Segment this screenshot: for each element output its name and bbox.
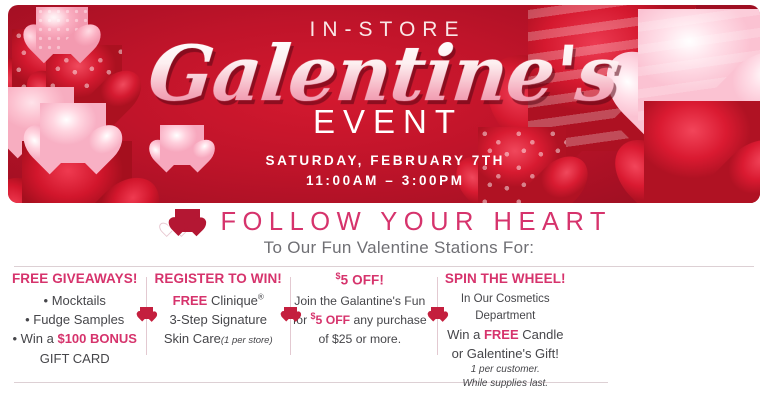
clinique-line-2: 3-Step Signature xyxy=(149,310,287,329)
fineprint-supplies: While supplies last. xyxy=(433,377,578,391)
per-store-limit: (1 per store) xyxy=(221,335,273,346)
win-a-text: Win a xyxy=(447,327,484,342)
heart-divider-icon xyxy=(284,307,297,319)
details-panel: FOLLOW YOUR HEART To Our Fun Valentine S… xyxy=(0,203,768,402)
column-divider-1 xyxy=(146,277,147,355)
stations-columns: FREE GIVEAWAYS! • Mocktails • Fudge Samp… xyxy=(0,271,578,390)
clinique-offer-line: FREE Clinique® xyxy=(149,291,287,310)
column-divider-2 xyxy=(290,277,291,355)
heart-divider-icon xyxy=(431,307,444,319)
station-heading: SPIN THE WHEEL! xyxy=(433,271,578,288)
hero-time: 11:00AM – 3:00PM xyxy=(263,171,505,191)
bonus-amount: $100 BONUS xyxy=(57,331,136,346)
column-divider-3 xyxy=(437,277,438,355)
station-heading: $5 OFF! xyxy=(287,271,432,289)
giftcard-label: GIFT CARD xyxy=(0,349,149,368)
giveaway-item-mocktails: • Mocktails xyxy=(0,291,149,310)
free-highlight: FREE xyxy=(484,327,519,342)
five-off-amount: 5 OFF xyxy=(316,313,351,327)
heart-solid-icon xyxy=(175,209,200,232)
candle-offer-line: Win a FREE Candle xyxy=(433,325,578,344)
hero-text-block: IN-STORE Galentine's EVENT SATURDAY, FEB… xyxy=(8,5,760,203)
hero-banner: IN-STORE Galentine's EVENT SATURDAY, FEB… xyxy=(8,5,760,203)
station-spin-the-wheel: SPIN THE WHEEL! In Our Cosmetics Departm… xyxy=(433,271,578,390)
follow-heart-icons xyxy=(164,208,208,238)
brand-name: Clinique xyxy=(211,293,258,308)
five-off-text: 5 OFF! xyxy=(341,273,384,288)
divider-top xyxy=(14,266,754,267)
station-register-to-win: REGISTER TO WIN! FREE Clinique® 3-Step S… xyxy=(149,271,287,349)
hero-datetime: SATURDAY, FEBRUARY 7TH 11:00AM – 3:00PM xyxy=(263,151,505,190)
free-word: FREE xyxy=(173,293,208,308)
clinique-line-3: Skin Care(1 per store) xyxy=(149,329,287,348)
five-off-line-3: of $25 or more. xyxy=(287,330,432,348)
galentines-gift-line: or Galentine's Gift! xyxy=(433,344,578,363)
fineprint-per-customer: 1 per customer. xyxy=(433,363,578,377)
promotional-banner: IN-STORE Galentine's EVENT SATURDAY, FEB… xyxy=(0,0,768,402)
five-off-line-1: Join the Galantine's Fun xyxy=(287,292,432,310)
station-heading: REGISTER TO WIN! xyxy=(149,271,287,288)
registered-mark: ® xyxy=(258,293,264,302)
giveaway-item-giftcard: • Win a $100 BONUS xyxy=(0,329,149,348)
hero-script-title: Galentine's xyxy=(140,38,629,109)
any-purchase-text: any purchase xyxy=(350,313,427,327)
follow-your-heart-row: FOLLOW YOUR HEART xyxy=(0,206,768,239)
station-heading: FREE GIVEAWAYS! xyxy=(0,271,149,288)
hero-date: SATURDAY, FEBRUARY 7TH xyxy=(263,151,505,171)
heart-divider-icon xyxy=(140,307,153,319)
five-off-highlight: $5 OFF xyxy=(311,313,351,327)
heart-pink-small-center xyxy=(160,125,204,165)
skincare-text: Skin Care xyxy=(164,331,221,346)
station-five-off: $5 OFF! Join the Galantine's Fun for $5 … xyxy=(287,271,432,348)
station-free-giveaways: FREE GIVEAWAYS! • Mocktails • Fudge Samp… xyxy=(0,271,149,368)
candle-text: Candle xyxy=(519,327,564,342)
cosmetics-dept-line: In Our Cosmetics Department xyxy=(433,291,578,325)
giveaway-item-fudge: • Fudge Samples xyxy=(0,310,149,329)
follow-subtitle: To Our Fun Valentine Stations For: xyxy=(0,238,768,258)
bonus-prefix: • Win a xyxy=(12,331,57,346)
follow-title: FOLLOW YOUR HEART xyxy=(214,208,612,237)
five-off-line-2: for $5 OFF any purchase xyxy=(287,310,432,329)
